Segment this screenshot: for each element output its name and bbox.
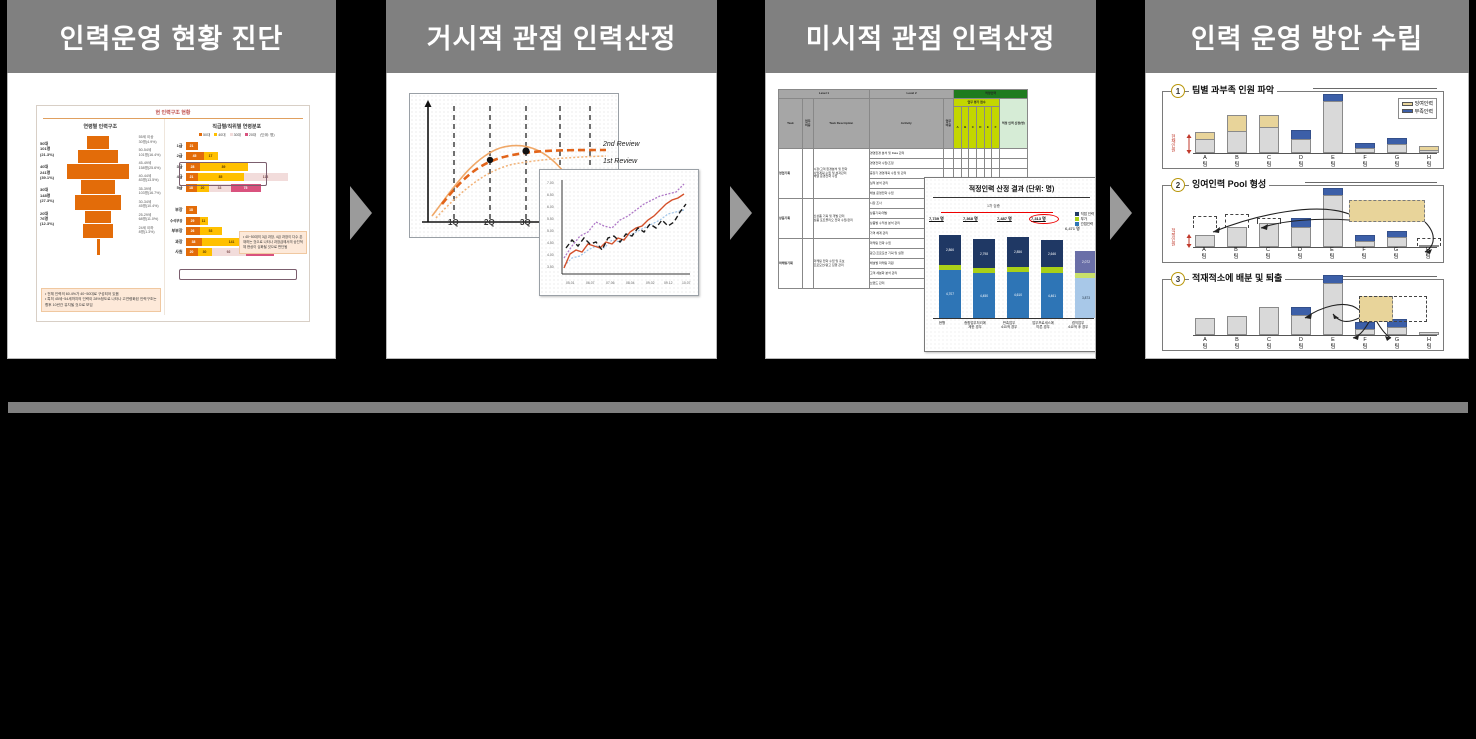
tick-team-h: H 팀 <box>1418 247 1438 261</box>
cell-score <box>954 149 962 159</box>
tick-team-c: C 팀 <box>1259 155 1279 169</box>
col-activity: Activity <box>869 99 943 149</box>
bar-team-f <box>1355 143 1375 153</box>
bar-cat-4: 업무프로세스에 따른 경우 <box>1025 321 1061 330</box>
grade-seg: 45 <box>186 152 204 160</box>
svg-text:09.02: 09.02 <box>646 281 655 285</box>
cell-description: 마케팅 전략 수립 및 홍보 프로모션/광고 집행 관리 <box>813 239 869 289</box>
curve-label-2nd-review: 2nd Review <box>603 141 640 148</box>
axis-tick-3q: 3Q <box>520 218 531 227</box>
section-3-box: 3 적재적소에 배분 및 퇴출 <box>1162 279 1444 351</box>
rank-seg: 11 <box>200 217 208 225</box>
cell-score <box>992 159 1000 169</box>
svg-text:6.00: 6.00 <box>547 205 554 209</box>
cell-task: 영업기획 <box>779 149 803 199</box>
grade-seg: 21 <box>186 142 198 150</box>
macro-trend-inset: 7.006.506.00 5.505.004.50 4.003.50 05.01… <box>539 169 699 296</box>
age-detail-labels: 55세 이상 30명(4.9%) 50-54세 101명(16.4%) 45-4… <box>139 135 161 239</box>
section-1-axis <box>1193 153 1437 154</box>
pyramid-bar-6 <box>85 211 111 223</box>
sub-header-count: 적정 인력 산정(명) <box>999 99 1027 149</box>
legend-20s: 20대 <box>245 133 256 138</box>
insight-callout: • 40~50대의 3급 과장, 4급 과장이 다수 존재하는 것으로 나타나 … <box>239 231 307 254</box>
tick-team-f: F 팀 <box>1354 247 1374 261</box>
svg-text:10.07: 10.07 <box>682 281 691 285</box>
panel-workforce-diagnosis[interactable]: 인력운영 현황 진단 현 인력구조 현황 연령별 인력구조 50대 101명 (… <box>7 0 336 359</box>
cell-score <box>954 159 962 169</box>
bar-chart-subtitle: 1차 검증 <box>987 204 1000 209</box>
rank-label-1: 부장 <box>169 207 183 213</box>
bar-group: 2,856 4,610 <box>1007 237 1029 318</box>
age-detail-2: 45-49세 158명(25.6%) <box>139 161 161 170</box>
seg-direct: 2,646 <box>1041 240 1063 267</box>
section-1-rule <box>1313 88 1437 89</box>
cell-task: 상품기획 <box>779 199 803 239</box>
bar-group: 2,866 4,707 <box>939 235 961 318</box>
rank-seg: 30 <box>198 248 212 256</box>
pyramid-bar-3 <box>67 164 129 179</box>
bar-cat-2: 종합업무처리에 제한 경우 <box>957 321 993 330</box>
rank-label-3: 부부장 <box>169 228 183 234</box>
tick-team-f: F 팀 <box>1355 337 1375 351</box>
flow-arrow-2 <box>730 186 752 240</box>
tick-team-e: E 팀 <box>1322 247 1342 261</box>
section-2-badge: 2 <box>1171 178 1185 192</box>
bar-total-3: 7,487 명 <box>997 216 1012 222</box>
section-2-heading: 잉여인력 Pool 형성 <box>1189 177 1269 190</box>
panel-2-title: 거시적 관점 인력산정 <box>386 0 717 73</box>
cell-score <box>984 149 992 159</box>
rank-seg: 29 <box>186 217 200 225</box>
tick-team-h: H 팀 <box>1419 155 1439 169</box>
bar-team-c <box>1259 115 1279 153</box>
svg-text:06.07: 06.07 <box>586 281 595 285</box>
highlight-box-rank <box>179 269 297 280</box>
svg-text:09.12: 09.12 <box>664 281 673 285</box>
bar-team-h <box>1419 146 1439 153</box>
cell-score <box>961 159 969 169</box>
tick-team-a: A 팀 <box>1195 155 1215 169</box>
bar-team-b <box>1227 115 1247 153</box>
age-detail-5: 30-34세 45명(10.4%) <box>139 200 161 209</box>
tick-team-d: D 팀 <box>1290 247 1310 261</box>
left-subtitle: 연령별 인력구조 <box>37 123 164 130</box>
grade-row-1: 1급 21 <box>169 141 309 150</box>
svg-text:7.00: 7.00 <box>547 181 554 185</box>
cell-weight2 <box>943 149 954 159</box>
pyramid-bar-7 <box>83 224 113 238</box>
age-detail-3: 40-44세 83명(13.5%) <box>139 174 161 183</box>
tick-team-g: G 팀 <box>1387 155 1407 169</box>
tick-team-b: B 팀 <box>1226 247 1246 261</box>
highlight-ellipse <box>1029 214 1059 224</box>
pyramid-bar-5 <box>75 195 121 210</box>
cell-weight <box>802 239 813 289</box>
cell-score <box>969 149 977 159</box>
allocation-flow-arrows <box>1187 292 1447 348</box>
group-header-level1: Level 1 <box>779 90 870 99</box>
title-rule <box>933 197 1090 198</box>
panel-2-body: 1Q 2Q 3Q 4Q 2nd Review 1st Review 3rd Re… <box>386 73 717 359</box>
cell-weight <box>802 199 813 239</box>
cell-score <box>977 159 985 169</box>
inset-chart-svg: 7.006.506.00 5.505.004.50 4.003.50 05.01… <box>540 170 698 295</box>
cell-task: 마케팅기획 <box>779 239 803 289</box>
tick-team-e: E 팀 <box>1323 155 1343 169</box>
highlight-box-grade <box>179 162 267 186</box>
right-subtitle: 직급별/직위별 연령분포 <box>165 123 309 130</box>
rank-seg: 18 <box>186 206 197 214</box>
optimal-headcount-chart: 적정인력 산정 결과 (단위: 명) 직접 인력 부가 간접인력 1차 검증 2… <box>924 177 1096 352</box>
svg-text:4.50: 4.50 <box>547 241 554 245</box>
section-1-badge: 1 <box>1171 84 1185 98</box>
benchmark-line <box>941 212 1053 213</box>
axis-tick-2q: 2Q <box>484 218 495 227</box>
section-3-rule <box>1329 276 1437 277</box>
workforce-structure-card: 현 인력구조 현황 연령별 인력구조 50대 101명 (21.3%) 40대 … <box>36 105 310 322</box>
tick-team-g: G 팀 <box>1386 247 1406 261</box>
age-detail-0: 55세 이상 30명(4.9%) <box>139 135 161 144</box>
rank-row-2: 수석부장 29 11 <box>169 216 309 225</box>
col-task-description: Task Description <box>813 99 869 149</box>
cell-count <box>999 159 1027 169</box>
rank-seg: 38 <box>186 238 202 246</box>
bar-chart-title: 적정인력 산정 결과 (단위: 명) <box>925 184 1096 194</box>
tick-team-f: F 팀 <box>1355 155 1375 169</box>
table-header-row-2: Task 업무 비중 Task Description Activity 업무 … <box>779 99 1028 107</box>
svg-text:5.50: 5.50 <box>547 217 554 221</box>
pyramid-stem <box>97 239 100 255</box>
score-col-a: A <box>954 107 962 149</box>
pyramid-bar-4 <box>81 180 115 194</box>
rank-seg: 20 <box>186 248 198 256</box>
panel-1-body: 현 인력구조 현황 연령별 인력구조 50대 101명 (21.3%) 40대 … <box>7 73 336 359</box>
section-2-rule <box>1305 182 1437 183</box>
x-axis-line <box>933 318 1094 319</box>
section-1-box: 1 팀별 과부족 인원 파악 잉여인력 부족인력 현재인원 <box>1162 91 1444 169</box>
bar-cat-1: 현행 <box>925 321 959 325</box>
svg-text:07.06: 07.06 <box>606 281 615 285</box>
cell-weight2 <box>943 159 954 169</box>
tick-team-c: C 팀 <box>1258 247 1278 261</box>
tick-team-a: A 팀 <box>1195 337 1215 351</box>
pyramid-bar-1 <box>87 136 109 149</box>
score-col-c: C <box>969 107 977 149</box>
seg-direct: 2,866 <box>939 235 961 265</box>
legend-40s: 40대 <box>214 133 225 138</box>
section-2-y-label: 적정인원 <box>1171 228 1176 246</box>
bar-team-g <box>1387 138 1407 153</box>
panel-4-title: 인력 운영 방안 수립 <box>1145 0 1469 73</box>
rank-row-1: 부장 18 <box>169 206 309 215</box>
seg-indirect: 4,461 <box>1041 273 1063 318</box>
panel-1-title: 인력운영 현황 진단 <box>7 0 336 73</box>
current-headcount-arrow-icon <box>1185 134 1193 154</box>
age-detail-4: 35-39세 103명(16.7%) <box>139 187 161 196</box>
score-col-b: B <box>961 107 969 149</box>
grade-distribution-column: 직급별/직위별 연령분포 50대 40대 30대 20대 (단위: 명) 1급 … <box>165 119 309 315</box>
cell-description: 시장/고객 환경분석 및 전략 사업계획 수립 및 성과관리 채널 운영전략 수… <box>813 149 869 199</box>
seg-indirect: 4,610 <box>1007 272 1029 318</box>
bar-group: 2,072 3,873 <box>1075 251 1096 318</box>
age-structure-column: 연령별 인력구조 50대 101명 (21.3%) 40대 241명 (39.1… <box>37 119 165 315</box>
bar-group: 2,798 4,450 <box>973 239 995 318</box>
tick-team-g: G 팀 <box>1387 337 1407 351</box>
rank-label-5: 사원 <box>169 249 183 255</box>
svg-text:5.00: 5.00 <box>547 229 554 233</box>
axis-tick-1q: 1Q <box>448 218 459 227</box>
table-header-row-1: Level 1 Level 2 적정인력 <box>779 90 1028 99</box>
bar-cat-3: 판촉업무 소요적 경우 <box>991 321 1027 330</box>
tick-team-d: D 팀 <box>1291 337 1311 351</box>
flow-arrow-1 <box>350 186 372 240</box>
svg-text:3.50: 3.50 <box>547 265 554 269</box>
cell-score <box>977 149 985 159</box>
cell-description: 신상품 기획 및 개발 관리 상품 포트폴리오 전략 수립/관리 <box>813 199 869 239</box>
seg-indirect: 3,873 <box>1075 278 1096 318</box>
rank-label-2: 수석부장 <box>169 218 183 223</box>
score-col-e: E <box>984 107 992 149</box>
seg-indirect: 4,707 <box>939 270 961 318</box>
col-weight-2: 업무 비중 <box>943 99 954 149</box>
section-3-heading: 적재적소에 배분 및 퇴출 <box>1189 271 1285 284</box>
col-weight-1: 업무 비중 <box>802 99 813 149</box>
tick-team-b: B 팀 <box>1227 155 1247 169</box>
cell-activity: 경영전략 수립/조정 <box>869 159 943 169</box>
legend-50s: 50대 <box>199 133 210 138</box>
legend-surplus: 잉여인력 <box>1402 101 1433 109</box>
svg-text:05.01: 05.01 <box>566 281 575 285</box>
bar-total-2: 7,368 명 <box>963 216 978 222</box>
cell-score <box>961 149 969 159</box>
summary-note: • 전체 인력의 60.4%가 40~50대로 구성되어 있음 • 특히 45세… <box>41 288 161 312</box>
cell-score <box>969 159 977 169</box>
grade-legend: 50대 40대 30대 20대 (단위: 명) <box>165 133 309 138</box>
tick-team-d: D 팀 <box>1291 155 1311 169</box>
bar-team-d <box>1291 130 1311 153</box>
panel-macro-estimation[interactable]: 거시적 관점 인력산정 <box>386 0 717 359</box>
bar-plot-area: 2,866 4,707 2,798 4,450 2,856 4,610 <box>933 222 1094 318</box>
age-detail-1: 50-54세 101명(16.4%) <box>139 148 161 157</box>
section-3-badge: 3 <box>1171 272 1185 286</box>
tick-team-e: E 팀 <box>1323 337 1343 351</box>
group-header-optimal: 적정인력 <box>954 90 1028 99</box>
panel-operation-plan[interactable]: 인력 운영 방안 수립 1 팀별 과부족 인원 파악 잉여인력 부족인력 현재인… <box>1145 0 1469 359</box>
cell-score <box>984 159 992 169</box>
panel-4-body: 1 팀별 과부족 인원 파악 잉여인력 부족인력 현재인원 <box>1145 73 1469 359</box>
cell-activity: 경영환경 분석 및 Data 관리 <box>869 149 943 159</box>
legend-unit: (단위: 명) <box>260 133 274 138</box>
bar-cat-5: 겸직업무 소요적 후 경우 <box>1059 321 1096 330</box>
grade-row-2: 2급 45 17 <box>169 152 309 161</box>
slide-canvas: 인력운영 현황 진단 현 인력구조 현황 연령별 인력구조 50대 101명 (… <box>0 0 1476 739</box>
tick-team-c: C 팀 <box>1259 337 1279 351</box>
pyramid-bar-2 <box>78 150 118 163</box>
age-detail-7: 24세 이하 8명(1.3%) <box>139 226 161 235</box>
grade-seg: 17 <box>204 152 218 160</box>
seg-direct: 2,798 <box>973 239 995 268</box>
tick-team-a: A 팀 <box>1194 247 1214 261</box>
score-col-d: D <box>977 107 985 149</box>
rank-seg: 53 <box>200 227 222 235</box>
rank-seg: 26 <box>186 227 200 235</box>
cell-score <box>992 149 1000 159</box>
cell-count <box>999 149 1027 159</box>
bar-team-a <box>1195 132 1215 153</box>
svg-text:08.04: 08.04 <box>626 281 635 285</box>
col-task: Task <box>779 99 803 149</box>
panel-micro-estimation[interactable]: 미시적 관점 인력산정 Level 1 Level 2 적정인력 Task 업무… <box>765 0 1096 359</box>
sub-header-score: 업무 평가 점수 <box>954 99 999 107</box>
table-row: 영업기획 시장/고객 환경분석 및 전략 사업계획 수립 및 성과관리 채널 운… <box>779 149 1028 159</box>
section-1-heading: 팀별 과부족 인원 파악 <box>1189 83 1277 96</box>
age-detail-6: 25-29세 68명(11.0%) <box>139 213 161 222</box>
grade-label-2: 2급 <box>169 153 183 159</box>
card-title: 현 인력구조 현황 <box>43 106 303 119</box>
seg-direct: 2,072 <box>1075 251 1096 273</box>
tick-team-b: B 팀 <box>1227 337 1247 351</box>
tick-team-h: H 팀 <box>1419 337 1439 351</box>
panel-3-title: 미시적 관점 인력산정 <box>765 0 1096 73</box>
seg-direct: 2,856 <box>1007 237 1029 267</box>
legend-30s: 30대 <box>230 133 241 138</box>
bar-total-5: 6,471 명 <box>1065 226 1080 232</box>
panel-3-body: Level 1 Level 2 적정인력 Task 업무 비중 Task Des… <box>765 73 1096 359</box>
bar-group: 2,646 4,461 <box>1041 240 1063 318</box>
rank-label-4: 과장 <box>169 239 183 245</box>
legend-shortage: 부족인력 <box>1402 109 1433 117</box>
bar-total-1: 7,739 명 <box>929 216 944 222</box>
seg-indirect: 4,450 <box>973 273 995 318</box>
bottom-divider <box>8 402 1468 413</box>
svg-text:4.00: 4.00 <box>547 253 554 257</box>
cell-weight <box>802 149 813 199</box>
flow-arrow-3 <box>1110 186 1132 240</box>
score-col-f: F <box>992 107 1000 149</box>
curve-label-1st-review: 1st Review <box>603 158 637 165</box>
group-header-level2: Level 2 <box>869 90 953 99</box>
grade-label-1: 1급 <box>169 143 183 149</box>
surplus-shortage-legend: 잉여인력 부족인력 <box>1398 98 1437 119</box>
svg-text:6.50: 6.50 <box>547 193 554 197</box>
bar-team-e <box>1323 94 1343 153</box>
section-1-y-label: 현재인원 <box>1171 134 1176 152</box>
